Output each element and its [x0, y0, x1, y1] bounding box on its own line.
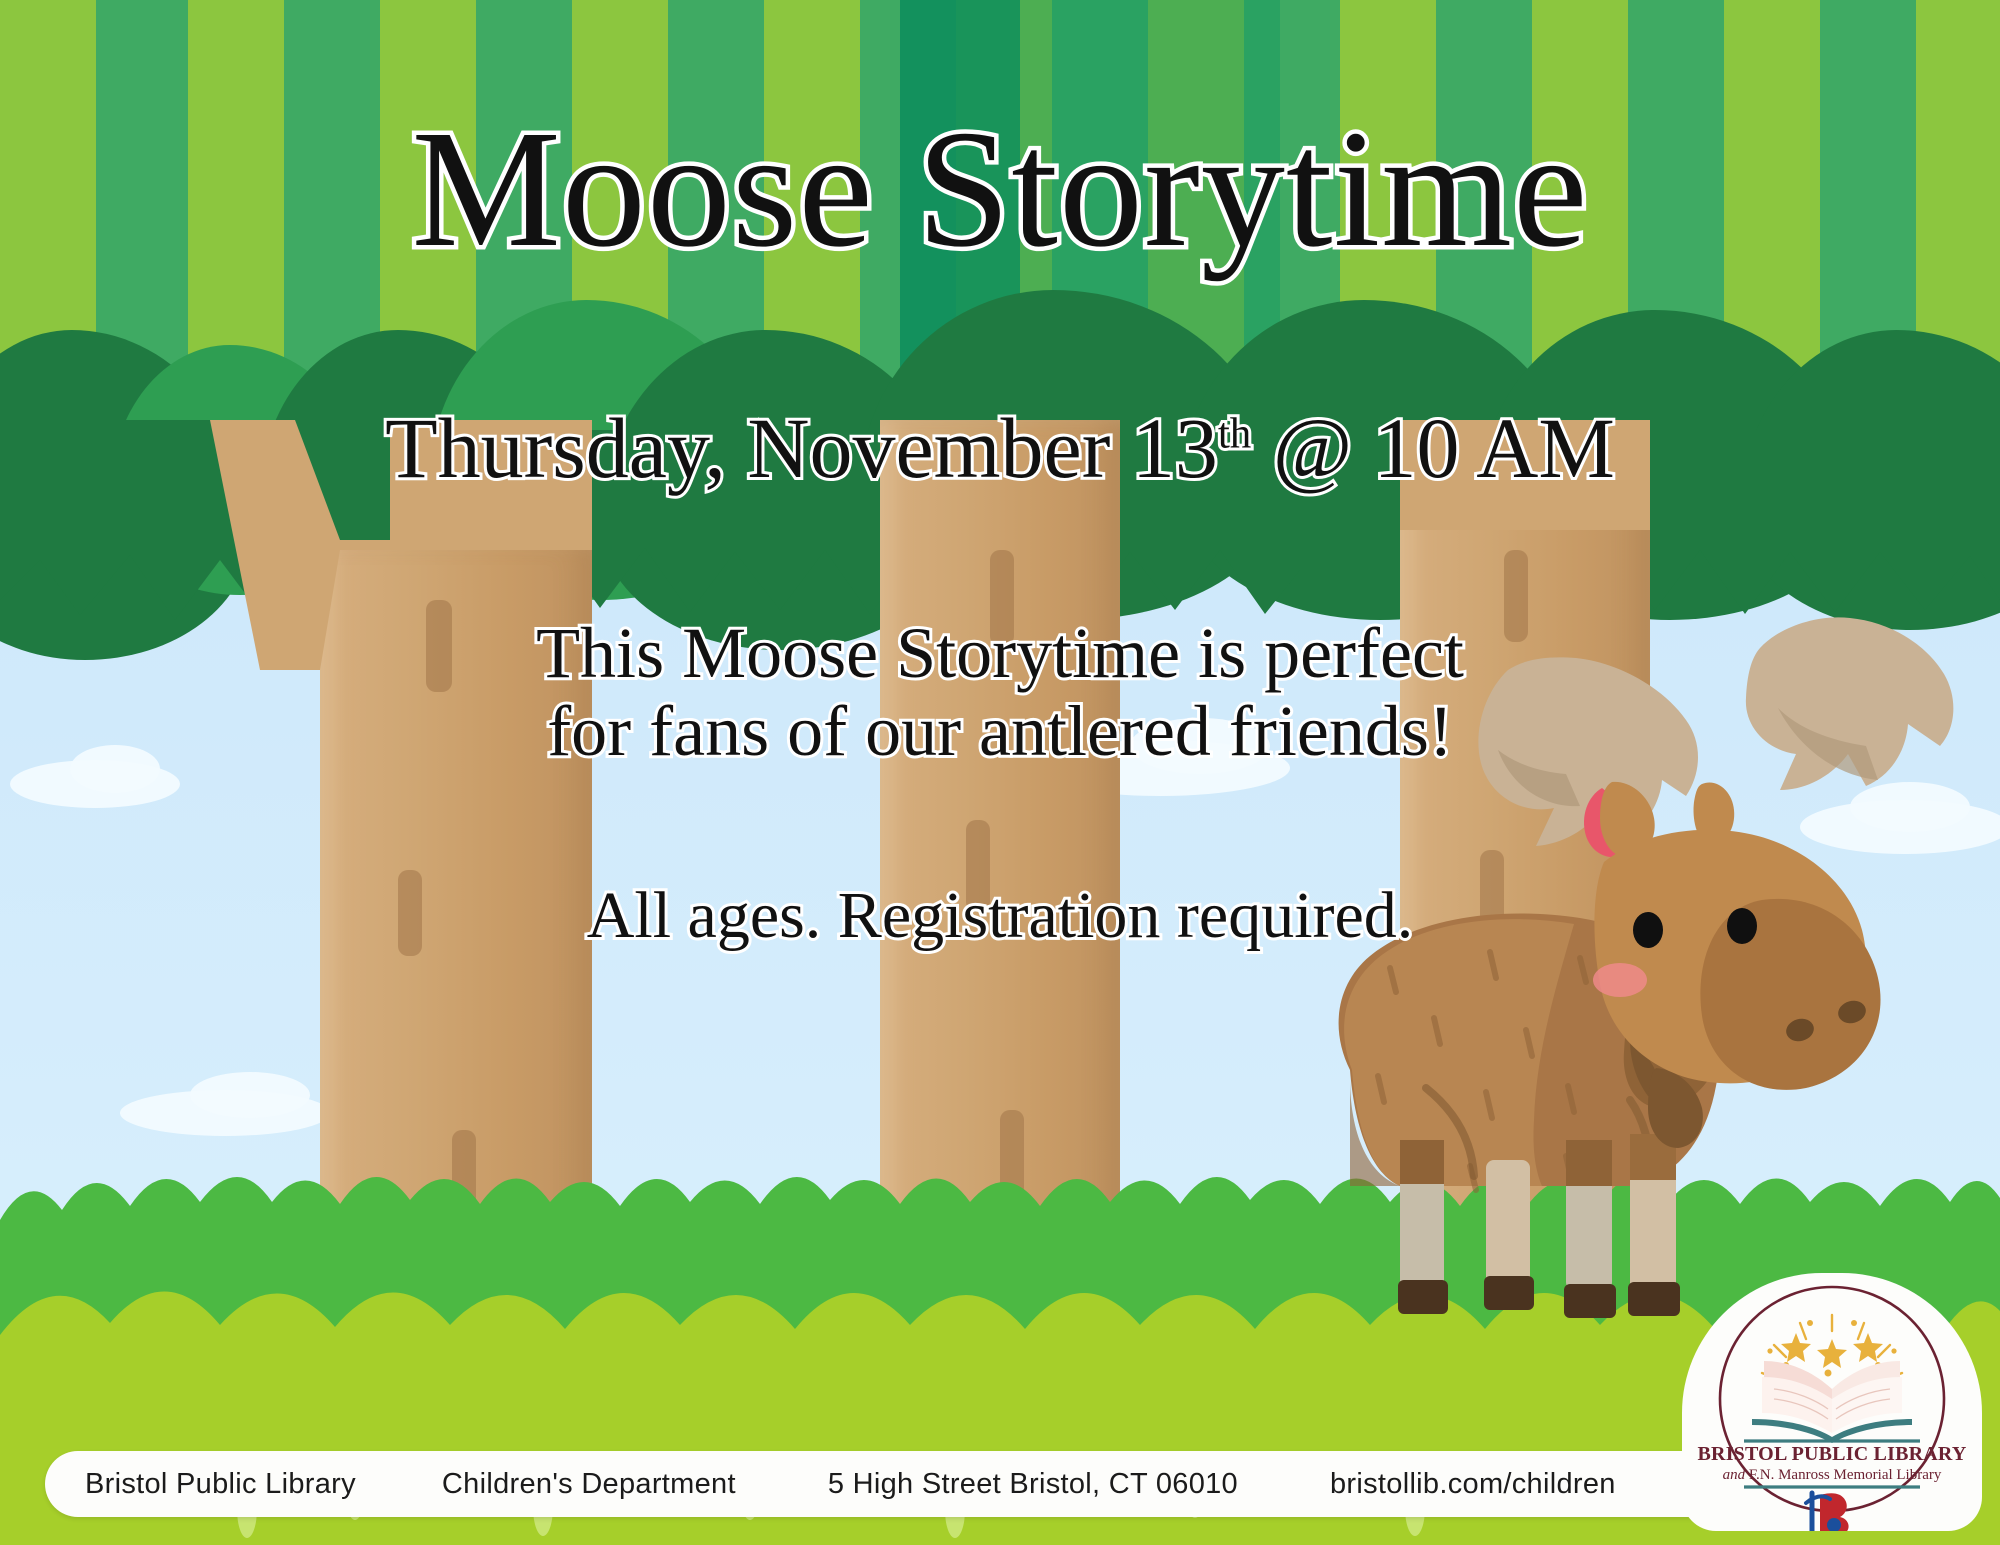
event-time-suffix: @ 10 AM [1251, 400, 1615, 496]
footer-library-name: Bristol Public Library [85, 1468, 356, 1501]
event-datetime: Thursday, November 13th @ 10 AM [0, 405, 2000, 491]
footer-contact-bar: Bristol Public Library Children's Depart… [45, 1451, 1845, 1517]
logo-open-book [1752, 1361, 1912, 1443]
logo-name-secondary-text: F.N. Manross Memorial Library [1749, 1467, 1942, 1483]
logo-name-secondary: and F.N. Manross Memorial Library [1682, 1467, 1982, 1484]
footer-department: Children's Department [442, 1468, 736, 1501]
event-date-ordinal: th [1218, 410, 1251, 457]
poster-root: Moose Storytime Thursday, November 13th … [0, 0, 2000, 1545]
library-logo: BRISTOL PUBLIC LIBRARY and F.N. Manross … [1682, 1273, 1982, 1531]
event-description: This Moose Storytime is perfect for fans… [0, 615, 2000, 771]
event-registration-note: All ages. Registration required. [0, 880, 2000, 953]
page-title: Moose Storytime [0, 105, 2000, 273]
footer-address: 5 High Street Bristol, CT 06010 [828, 1468, 1238, 1501]
logo-name-secondary-and: and [1723, 1467, 1749, 1483]
logo-monogram [1806, 1493, 1849, 1531]
logo-name-primary: BRISTOL PUBLIC LIBRARY [1682, 1443, 1982, 1466]
event-description-line-2: for fans of our antlered friends! [0, 693, 2000, 771]
event-date-prefix: Thursday, November 13 [385, 400, 1218, 496]
footer-website[interactable]: bristollib.com/children [1330, 1468, 1616, 1501]
event-description-line-1: This Moose Storytime is perfect [0, 615, 2000, 693]
